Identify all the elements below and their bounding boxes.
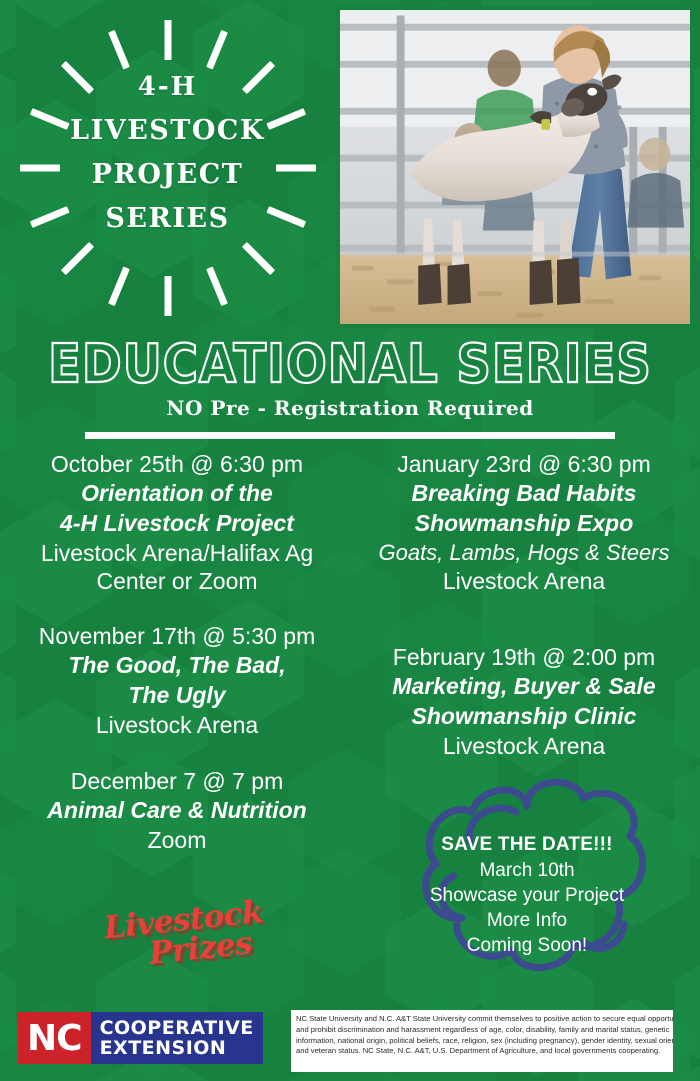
event-datetime: November 17th @ 5:30 pm xyxy=(8,622,346,651)
logo-cooperative-text: COOPERATIVE xyxy=(100,1018,254,1038)
save-the-date-block: SAVE THE DATE!!! March 10th Showcase you… xyxy=(398,832,656,958)
event-location: Livestock Arena xyxy=(8,711,346,740)
brand-title: 4-H Livestock Project Series xyxy=(0,74,335,232)
logo-extension-text: EXTENSION xyxy=(100,1038,254,1058)
event-title-line: Breaking Bad Habits xyxy=(352,479,696,509)
logo-nc-mark: NC xyxy=(18,1012,91,1064)
sunburst-ray xyxy=(108,29,130,69)
event-location: Livestock Arena xyxy=(352,567,696,596)
event-location: Center or Zoom xyxy=(8,567,346,596)
sunburst-ray xyxy=(241,241,274,274)
page-title: EDUCATIONAL SERIES xyxy=(0,333,700,396)
sunburst-ray xyxy=(206,29,228,69)
brand-line-1: 4-H xyxy=(0,74,335,100)
nc-cooperative-extension-logo: NC COOPERATIVE EXTENSION xyxy=(18,1012,263,1064)
hexagon-shape xyxy=(0,948,16,1076)
disclaimer-text: NC State University and N.C. A&T State U… xyxy=(296,1014,673,1057)
save-the-date-line: Coming Soon! xyxy=(398,933,656,958)
poster-canvas: 4-H Livestock Project Series xyxy=(0,0,700,1081)
divider-rule xyxy=(85,432,615,439)
event-item: February 19th @ 2:00 pm Marketing, Buyer… xyxy=(352,643,696,760)
photo-illustration xyxy=(340,10,690,324)
hexagon-shape xyxy=(674,1048,700,1081)
save-the-date-line: Showcase your Project xyxy=(398,883,656,908)
event-title-line: Showmanship Clinic xyxy=(352,702,696,732)
sunburst-ray xyxy=(60,241,93,274)
livestock-show-photo xyxy=(336,6,694,328)
brand-line-2: Livestock xyxy=(0,117,335,144)
event-datetime: February 19th @ 2:00 pm xyxy=(352,643,696,672)
event-title-line: Animal Care & Nutrition xyxy=(8,796,346,826)
event-datetime: October 25th @ 6:30 pm xyxy=(8,450,346,479)
event-species-note: Goats, Lambs, Hogs & Steers xyxy=(352,539,696,567)
events-column-left: October 25th @ 6:30 pm Orientation of th… xyxy=(8,450,346,881)
registration-note: NO Pre - Registration Required xyxy=(0,396,700,420)
sunburst-ray xyxy=(206,266,228,306)
event-title-line: Orientation of the xyxy=(8,479,346,509)
event-item: November 17th @ 5:30 pm The Good, The Ba… xyxy=(8,622,346,739)
event-location: Zoom xyxy=(8,826,346,855)
event-item: January 23rd @ 6:30 pm Breaking Bad Habi… xyxy=(352,450,696,595)
event-datetime: January 23rd @ 6:30 pm xyxy=(352,450,696,479)
event-title-line: Marketing, Buyer & Sale xyxy=(352,672,696,702)
events-column-right: January 23rd @ 6:30 pm Breaking Bad Habi… xyxy=(352,450,696,787)
sunburst-ray xyxy=(164,276,171,316)
event-datetime: December 7 @ 7 pm xyxy=(8,767,346,796)
sunburst-ray xyxy=(108,266,130,306)
brand-line-4: Series xyxy=(0,205,335,232)
save-the-date-line: March 10th xyxy=(398,858,656,883)
event-title-line: Showmanship Expo xyxy=(352,509,696,539)
event-location: Livestock Arena xyxy=(352,732,696,761)
event-title-line: The Ugly xyxy=(8,681,346,711)
hexagon-shape xyxy=(674,948,700,1076)
event-location: Livestock Arena/Halifax Ag xyxy=(8,539,346,568)
sunburst-ray xyxy=(164,20,171,60)
logo-wordmark: COOPERATIVE EXTENSION xyxy=(91,1012,263,1064)
event-title-line: 4-H Livestock Project xyxy=(8,509,346,539)
event-item: December 7 @ 7 pm Animal Care & Nutritio… xyxy=(8,767,346,854)
event-title-line: The Good, The Bad, xyxy=(8,651,346,681)
brand-line-3: Project xyxy=(0,161,335,188)
livestock-prizes-badge: Livestock Prizes xyxy=(82,895,287,976)
event-item: October 25th @ 6:30 pm Orientation of th… xyxy=(8,450,346,596)
save-the-date-line: More Info xyxy=(398,908,656,933)
equal-opportunity-disclaimer: NC State University and N.C. A&T State U… xyxy=(291,1010,673,1072)
save-the-date-heading: SAVE THE DATE!!! xyxy=(398,832,656,858)
